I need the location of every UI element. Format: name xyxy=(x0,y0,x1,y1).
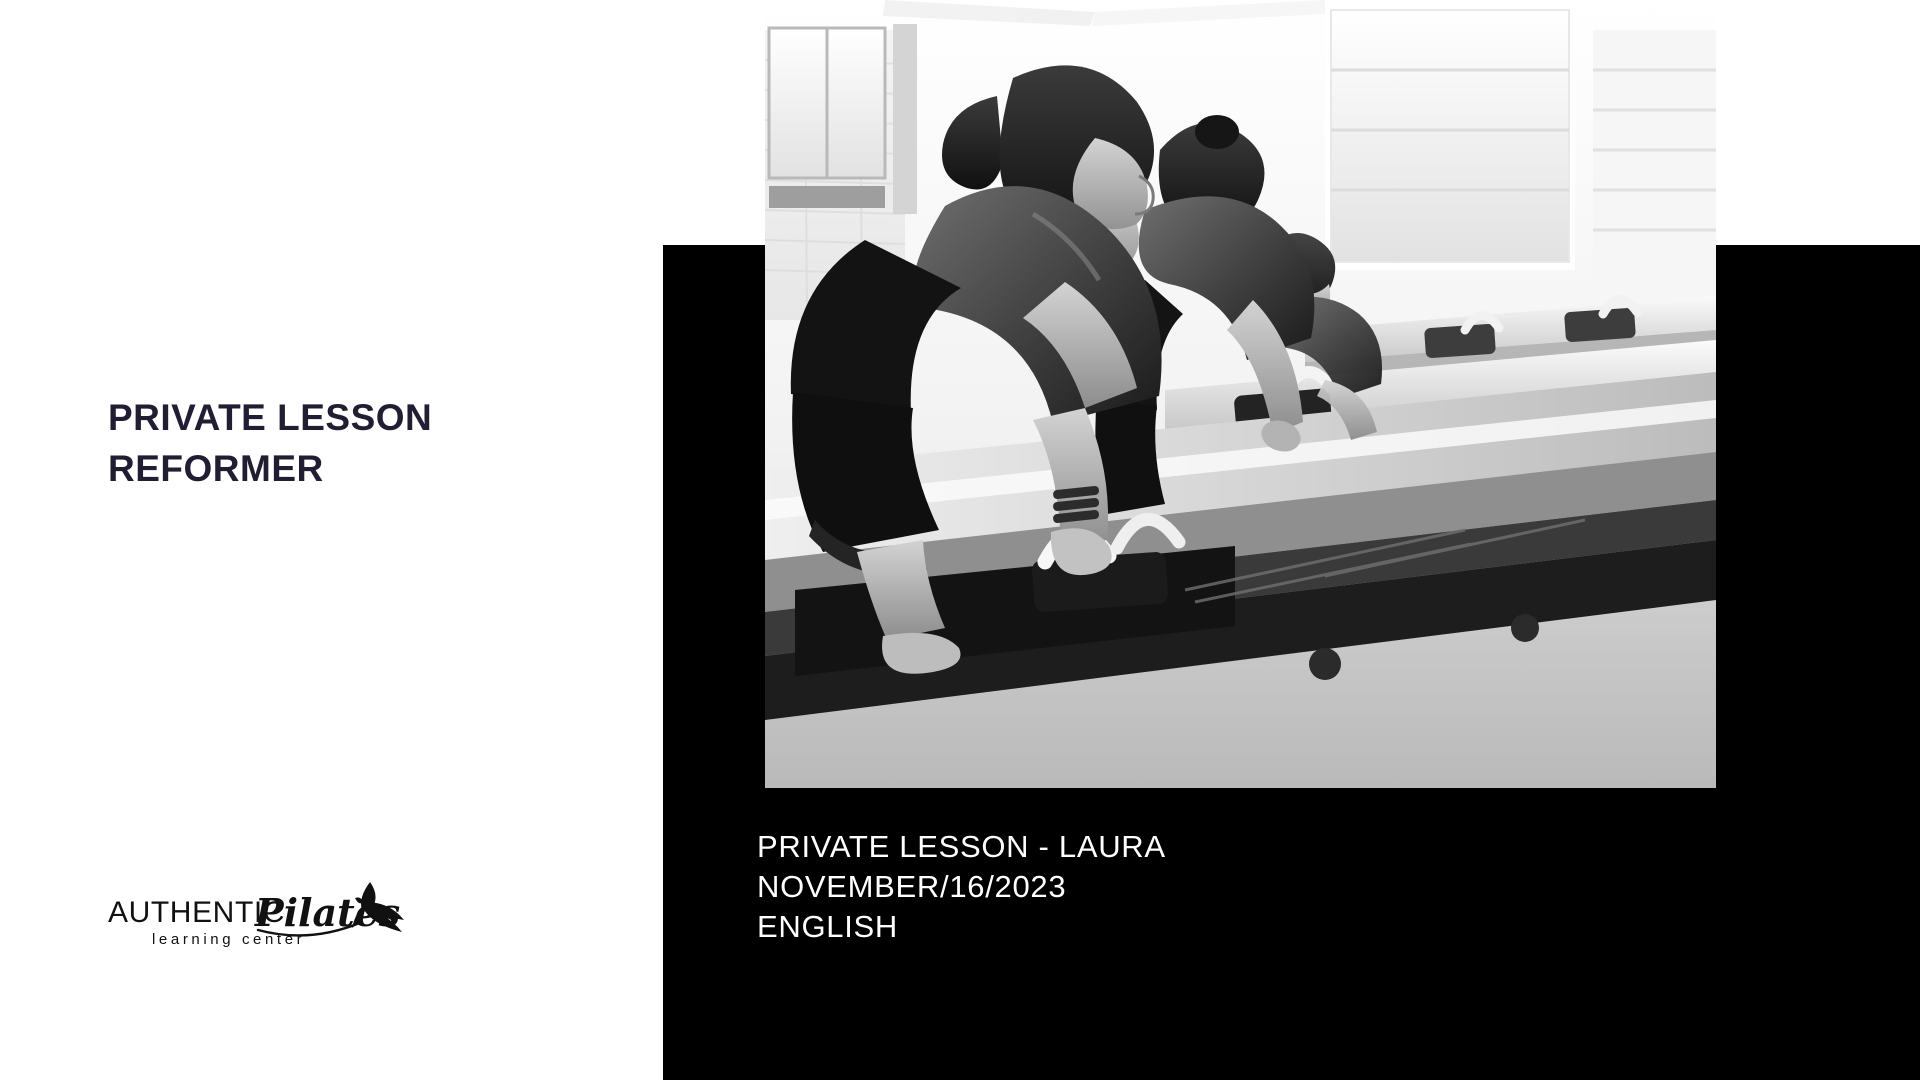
slide-title-line-1: PRIVATE LESSON xyxy=(108,392,538,443)
logo-tagline: learning center xyxy=(152,931,305,948)
caption-line-lesson-teacher: PRIVATE LESSON - LAURA xyxy=(757,827,1166,867)
caption-line-date: NOVEMBER/16/2023 xyxy=(757,867,1166,907)
slide-title-line-2: REFORMER xyxy=(108,443,538,494)
caption-line-language: ENGLISH xyxy=(757,907,1166,947)
pilates-reformer-photo xyxy=(765,0,1716,788)
slide-title: PRIVATE LESSON REFORMER xyxy=(108,392,538,494)
lesson-caption: PRIVATE LESSON - LAURA NOVEMBER/16/2023 … xyxy=(757,827,1166,947)
authentic-pilates-logo: AUTHENTIC Pilates learning center xyxy=(108,876,408,948)
